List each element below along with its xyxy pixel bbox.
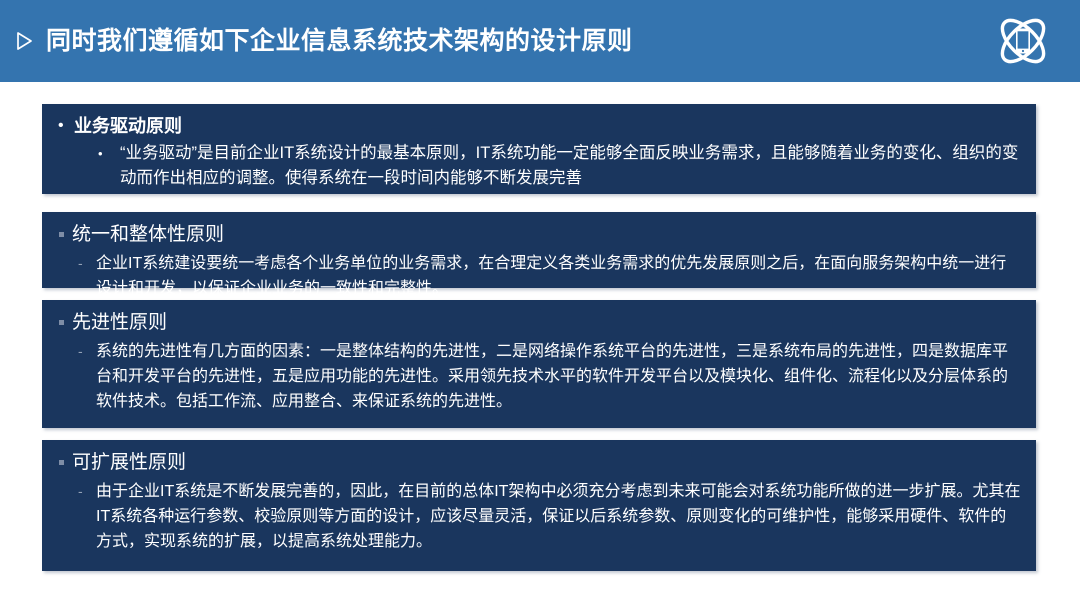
panel-body-row: - 系统的先进性有几方面的因素：一是整体结构的先进性，二是网络操作系统平台的先进… <box>56 339 1022 414</box>
dash-bullet-icon: - <box>76 251 96 276</box>
panel-heading-row: • 业务驱动原则 <box>56 114 1022 138</box>
dash-bullet-icon: - <box>76 479 96 504</box>
square-bullet-icon <box>56 222 72 237</box>
panel-body-text: 系统的先进性有几方面的因素：一是整体结构的先进性，二是网络操作系统平台的先进性，… <box>96 339 1022 414</box>
panel-heading-row: 统一和整体性原则 <box>56 222 1022 248</box>
panel-heading: 统一和整体性原则 <box>72 222 224 248</box>
panel-heading-row: 先进性原则 <box>56 310 1022 336</box>
panel-heading-row: 可扩展性原则 <box>56 450 1022 476</box>
principle-panel-unity-integrity: 统一和整体性原则 - 企业IT系统建设要统一考虑各个业务单位的业务需求，在合理定… <box>42 212 1036 288</box>
principle-panel-advancement: 先进性原则 - 系统的先进性有几方面的因素：一是整体结构的先进性，二是网络操作系… <box>42 300 1036 428</box>
principle-panel-business-driven: • 业务驱动原则 • “业务驱动”是目前企业IT系统设计的最基本原则，IT系统功… <box>42 104 1036 194</box>
panel-body-text: 由于企业IT系统是不断发展完善的，因此，在目前的总体IT架构中必须充分考虑到未来… <box>96 479 1022 554</box>
square-bullet-icon <box>56 310 72 325</box>
principle-panel-extensibility: 可扩展性原则 - 由于企业IT系统是不断发展完善的，因此，在目前的总体IT架构中… <box>42 440 1036 571</box>
square-bullet-icon <box>56 450 72 465</box>
panel-heading: 先进性原则 <box>72 310 167 336</box>
page-title: 同时我们遵循如下企业信息系统技术架构的设计原则 <box>46 29 633 54</box>
panel-body-text: 企业IT系统建设要统一考虑各个业务单位的业务需求，在合理定义各类业务需求的优先发… <box>96 251 1022 301</box>
round-dot-bullet-icon: • <box>56 114 74 138</box>
slide-header: 同时我们遵循如下企业信息系统技术架构的设计原则 <box>0 0 1080 82</box>
panel-heading: 业务驱动原则 <box>74 114 182 138</box>
panel-heading: 可扩展性原则 <box>72 450 186 476</box>
atom-tablet-logo-icon <box>988 6 1058 76</box>
round-dot-bullet-icon: • <box>98 141 120 166</box>
panel-body-row: - 由于企业IT系统是不断发展完善的，因此，在目前的总体IT架构中必须充分考虑到… <box>56 479 1022 554</box>
panel-body-row: • “业务驱动”是目前企业IT系统设计的最基本原则，IT系统功能一定能够全面反映… <box>56 141 1022 191</box>
arrow-right-outline-icon <box>14 29 36 53</box>
panel-body-text: “业务驱动”是目前企业IT系统设计的最基本原则，IT系统功能一定能够全面反映业务… <box>120 141 1022 191</box>
dash-bullet-icon: - <box>76 339 96 364</box>
panel-body-row: - 企业IT系统建设要统一考虑各个业务单位的业务需求，在合理定义各类业务需求的优… <box>56 251 1022 301</box>
